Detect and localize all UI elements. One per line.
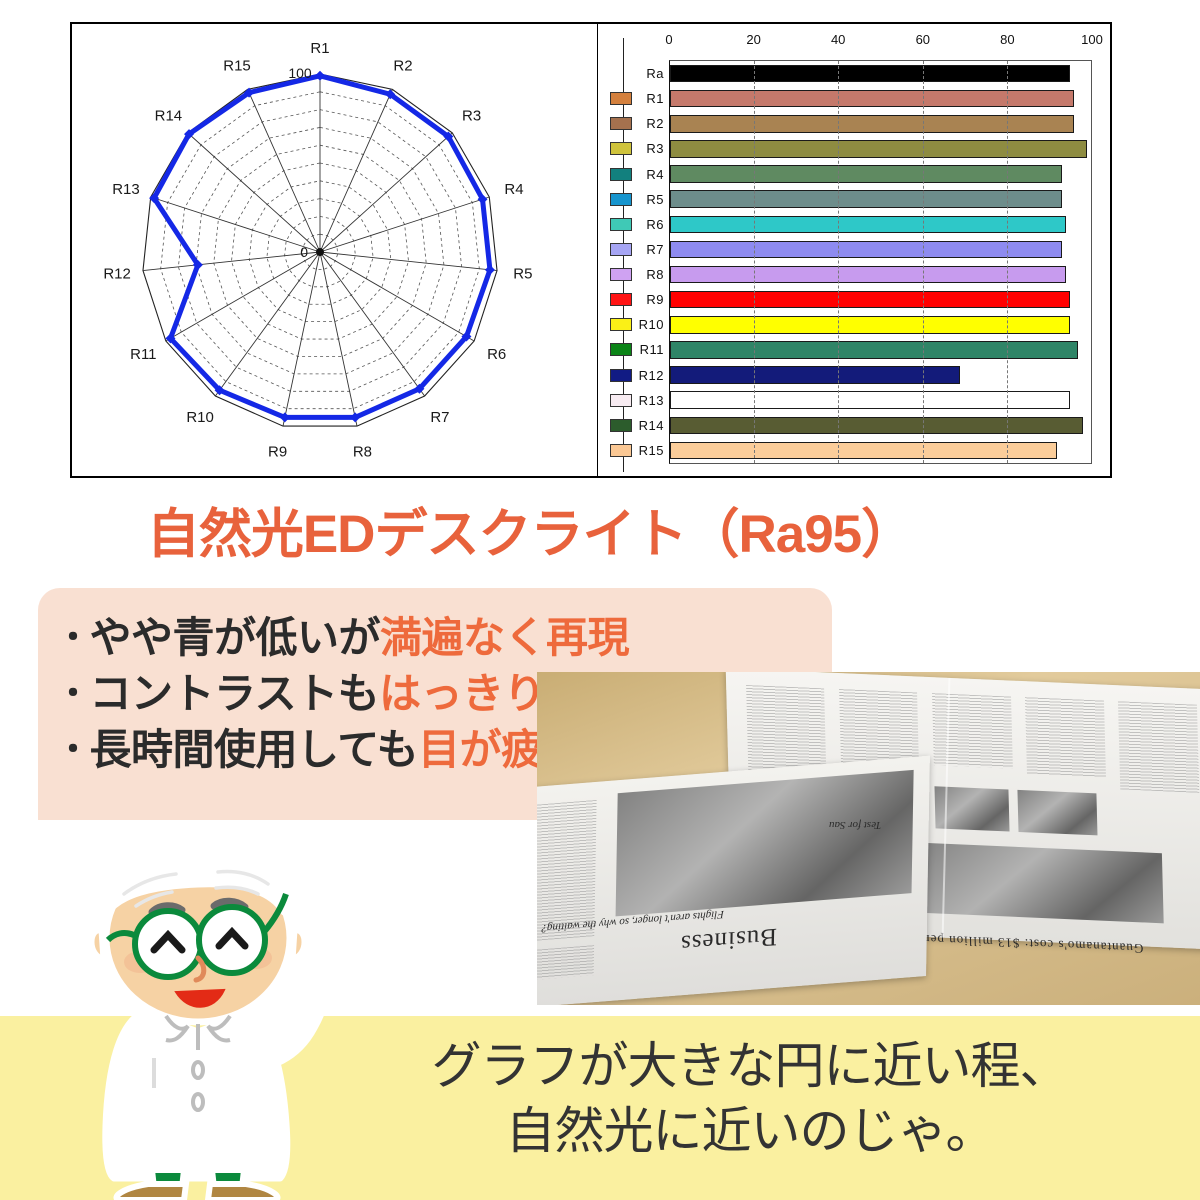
x-axis-tick-40: 40 [831,32,845,47]
newspaper-left-page: Flights aren't longer, so why the waitin… [537,756,930,1005]
bar-row: R1 [670,86,1091,111]
bar-R13 [670,391,1070,409]
bar-row: R12 [670,363,1091,388]
bullet-text-pre: やや青が低いが [90,614,381,661]
bar-R4 [670,165,1062,183]
bar-row: R3 [670,136,1091,161]
bullet-dot: ・ [56,731,90,769]
newspaper-masthead: Business [680,921,777,957]
bar-row: R4 [670,162,1091,187]
professor-character-svg [48,826,348,1200]
bar-R2 [670,115,1074,133]
bar-chart-plot-area: RaR1R2R3R4R5R6R7R8R9R10R11R12R13R14R15 [669,60,1092,464]
legend-swatch-R7 [610,243,632,256]
bar-R15 [670,442,1057,460]
bar-chart-rows: RaR1R2R3R4R5R6R7R8R9R10R11R12R13R14R15 [670,61,1091,463]
bullet-item: ・やや青が低いが満遍なく再現 [56,610,832,666]
bar-Ra [670,65,1070,83]
x-axis-tick-0: 0 [665,32,672,47]
bar-R5 [670,190,1062,208]
bar-row-label-R6: R6 [646,217,664,232]
bar-R10 [670,316,1070,334]
bar-row: R15 [670,438,1091,463]
radar-axis-label-R8: R8 [353,444,372,461]
radar-axis-label-R14: R14 [155,107,183,124]
legend-swatch-R5 [610,193,632,206]
bar-row: R13 [670,388,1091,413]
radar-axis-label-R12: R12 [103,265,131,282]
legend-swatch-R6 [610,218,632,231]
radar-axis-label-R2: R2 [393,58,412,75]
legend-swatch-R11 [610,343,632,356]
bar-row: R5 [670,187,1091,212]
bullet-text-pre: コントラストも [90,670,380,717]
bar-row: R2 [670,111,1091,136]
radar-axis-label-R13: R13 [112,181,140,198]
bar-row-label-R2: R2 [646,116,664,131]
bar-row: R7 [670,237,1091,262]
radar-axis-label-R3: R3 [462,107,481,124]
bar-R3 [670,140,1087,158]
radar-scale-min: 0 [300,244,308,260]
legend-swatch-R13 [610,394,632,407]
gridline [838,61,839,463]
radar-axis-label-R1: R1 [310,40,329,57]
gridline [754,61,755,463]
bar-row-label-R4: R4 [646,167,664,182]
bar-R11 [670,341,1078,359]
bar-row-label-R12: R12 [639,368,664,383]
legend-swatch-R15 [610,444,632,457]
shoes [116,1184,277,1200]
radar-axis-label-R15: R15 [223,58,251,75]
legend-swatch-R10 [610,318,632,331]
bar-row-label-R11: R11 [640,342,664,357]
legend-swatch-R4 [610,168,632,181]
bar-row-label-R8: R8 [646,267,664,282]
bar-row-label-R7: R7 [646,242,664,257]
bar-row-label-R10: R10 [639,317,664,332]
professor-character [48,826,348,1200]
banner-message: グラフが大きな円に近い程、 自然光に近いのじゃ。 [310,1034,1190,1164]
x-axis-tick-60: 60 [916,32,930,47]
banner-line-2: 自然光に近いのじゃ。 [310,1099,1190,1164]
radar-scale-max: 100 [288,65,312,81]
bar-row: R10 [670,312,1091,337]
bar-chart-x-axis: 020406080100 [599,32,1110,58]
legend-swatch-R14 [610,419,632,432]
legend-swatch-R2 [610,117,632,130]
bar-row-label-R14: R14 [639,418,664,433]
bar-row: R9 [670,287,1091,312]
newspaper-caption: Test for Sau [829,819,881,831]
legend-swatch-R9 [610,293,632,306]
radar-axis-label-R11: R11 [130,346,156,363]
bar-row-label-R1: R1 [646,91,664,106]
bar-R1 [670,90,1074,108]
bar-R9 [670,291,1070,309]
legend-swatch-R1 [610,92,632,105]
radar-axis-label-R10: R10 [186,409,214,426]
bar-row-label-R13: R13 [639,393,664,408]
bullet-text-pre: 長時間使用しても [90,726,419,773]
radar-chart-svg: R1R2R3R4R5R6R7R8R9R10R11R12R13R14R150100 [72,24,598,476]
bar-row: R14 [670,413,1091,438]
radar-axis-label-R7: R7 [430,409,449,426]
legend-swatch-R12 [610,369,632,382]
radar-chart-pane: R1R2R3R4R5R6R7R8R9R10R11R12R13R14R150100 [72,24,598,476]
bar-R7 [670,241,1062,259]
gridline [1007,61,1008,463]
bar-row: R6 [670,212,1091,237]
bar-R14 [670,417,1083,435]
bar-chart-pane: 020406080100 RaR1R2R3R4R5R6R7R8R9R10R11R… [599,24,1110,476]
bar-R12 [670,366,960,384]
bar-row-label-R3: R3 [646,141,664,156]
bar-row-label-Ra: Ra [646,66,664,81]
radar-axis-label-R4: R4 [504,181,523,198]
bar-row: Ra [670,61,1091,86]
bar-row-label-R9: R9 [646,292,664,307]
legend-swatch-R3 [610,142,632,155]
legend-swatch-R8 [610,268,632,281]
bullet-text-highlight: 満遍なく再現 [380,614,629,661]
newspaper-spread-photo: Guantanamo's cost: $13 million per priso… [537,672,1200,1005]
radar-axis-label-R5: R5 [513,265,532,282]
bar-row-label-R5: R5 [646,192,664,207]
gridline [923,61,924,463]
bullet-dot: ・ [56,675,90,713]
bar-row: R11 [670,337,1091,362]
color-rendering-chart-panel: R1R2R3R4R5R6R7R8R9R10R11R12R13R14R150100… [70,22,1112,478]
x-axis-tick-100: 100 [1081,32,1103,47]
page-title: 自然光EDデスクライト（Ra95） [0,492,1060,568]
radar-axis-label-R6: R6 [487,346,506,363]
x-axis-tick-80: 80 [1000,32,1014,47]
banner-line-1: グラフが大きな円に近い程、 [310,1034,1190,1099]
bullet-dot: ・ [56,619,90,657]
x-axis-tick-20: 20 [746,32,760,47]
bar-row-label-R15: R15 [639,443,664,458]
radar-axis-label-R9: R9 [268,444,287,461]
bullet-text-highlight: はっきり [379,670,545,717]
bar-row: R8 [670,262,1091,287]
